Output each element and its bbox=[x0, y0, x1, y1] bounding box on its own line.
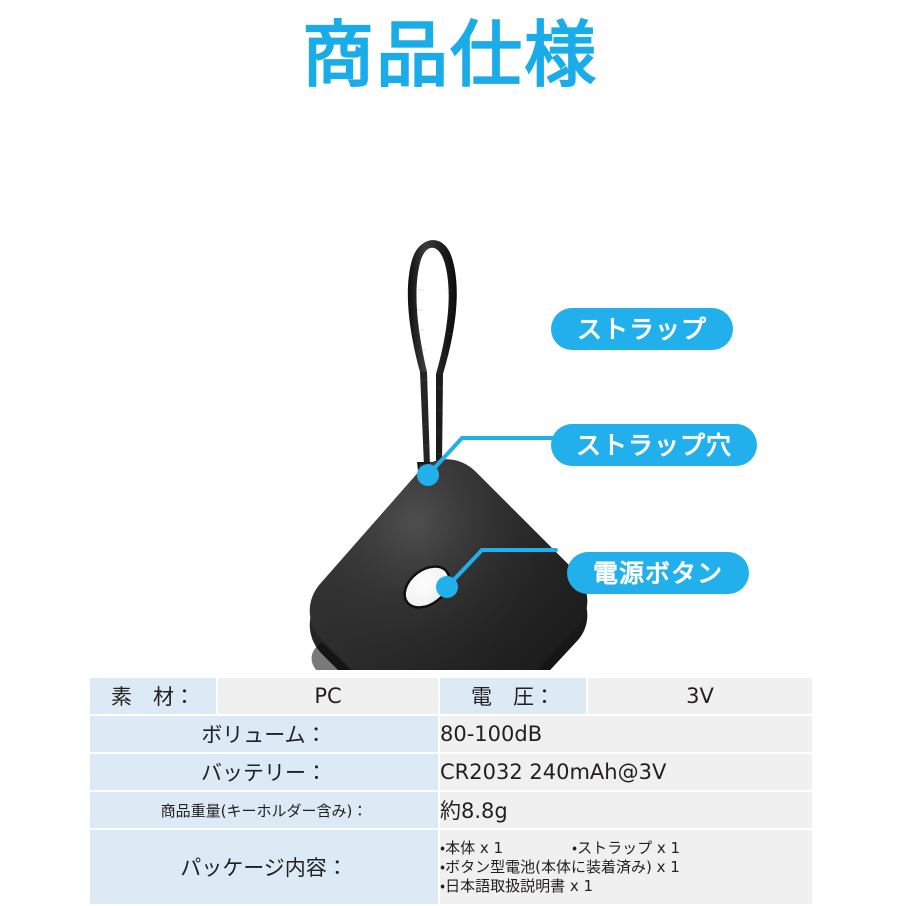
callout-label-strap-hole: ストラップ穴 bbox=[551, 424, 757, 466]
spec-value-weight: 約8.8g bbox=[439, 791, 813, 829]
product-illustration-svg bbox=[0, 110, 900, 670]
strap-strand-left bbox=[420, 372, 430, 466]
package-item-manual: ・日本語取扱説明書 x 1 bbox=[440, 877, 593, 896]
spec-value-battery: CR2032 240mAh@3V bbox=[439, 753, 813, 791]
product-illustration bbox=[0, 110, 900, 670]
package-line-2: ・ボタン型電池(本体に装着済み) x 1 bbox=[440, 858, 812, 877]
spec-value-voltage: 3V bbox=[587, 677, 813, 715]
spec-label-volume: ボリューム： bbox=[89, 715, 439, 753]
marker-dot-strap-hole bbox=[436, 576, 458, 598]
package-item-battery: ・ボタン型電池(本体に装着済み) x 1 bbox=[440, 858, 680, 877]
package-item-body: ・本体 x 1 bbox=[440, 839, 572, 858]
spec-label-material: 素 材： bbox=[89, 677, 217, 715]
page-title: 商品仕様 bbox=[0, 14, 900, 96]
spec-row-package: パッケージ内容： ・本体 x 1・ストラップ x 1 ・ボタン型電池(本体に装着… bbox=[89, 829, 813, 905]
marker-dot-strap bbox=[417, 464, 439, 486]
spec-row-volume: ボリューム： 80-100dB bbox=[89, 715, 813, 753]
callout-label-power-button: 電源ボタン bbox=[567, 552, 749, 594]
package-line-3: ・日本語取扱説明書 x 1 bbox=[440, 877, 812, 896]
spec-value-volume: 80-100dB bbox=[439, 715, 813, 753]
spec-table: 素 材： PC 電 圧： 3V ボリューム： 80-100dB バッテリー： C… bbox=[88, 676, 814, 906]
spec-label-weight: 商品重量(キーホルダー含み)： bbox=[89, 791, 439, 829]
spec-label-battery: バッテリー： bbox=[89, 753, 439, 791]
spec-label-voltage: 電 圧： bbox=[439, 677, 587, 715]
callout-label-strap: ストラップ bbox=[551, 308, 733, 350]
strap-loop bbox=[408, 240, 457, 374]
spec-row-material-voltage: 素 材： PC 電 圧： 3V bbox=[89, 677, 813, 715]
spec-row-weight: 商品重量(キーホルダー含み)： 約8.8g bbox=[89, 791, 813, 829]
package-item-strap: ・ストラップ x 1 bbox=[572, 839, 680, 858]
spec-row-battery: バッテリー： CR2032 240mAh@3V bbox=[89, 753, 813, 791]
spec-value-package: ・本体 x 1・ストラップ x 1 ・ボタン型電池(本体に装着済み) x 1 ・… bbox=[439, 829, 813, 905]
tracker-device-body bbox=[310, 459, 588, 670]
device-sheen bbox=[310, 459, 588, 670]
spec-label-package: パッケージ内容： bbox=[89, 829, 439, 905]
spec-value-material: PC bbox=[217, 677, 439, 715]
package-line-1: ・本体 x 1・ストラップ x 1 bbox=[440, 839, 812, 858]
